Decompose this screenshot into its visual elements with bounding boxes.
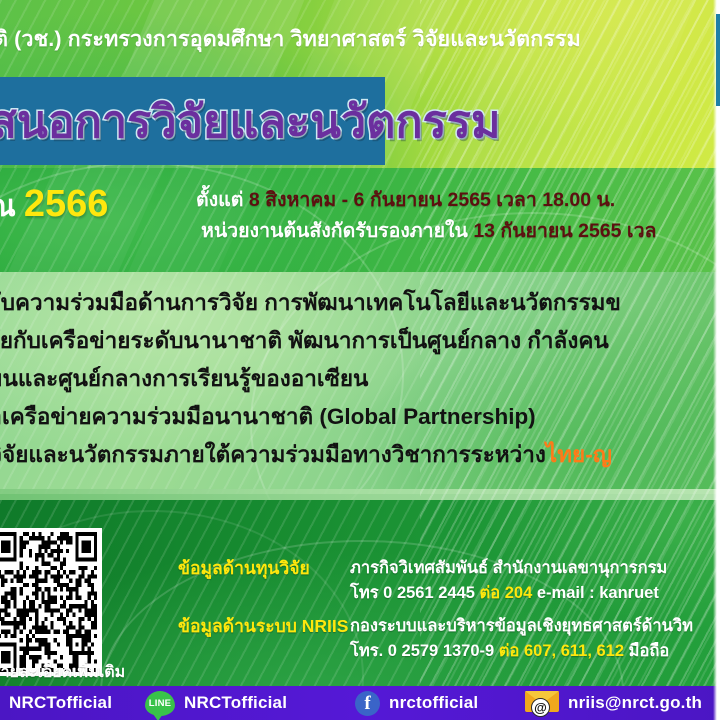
budget-year-prefix: ณ	[0, 190, 16, 223]
text-run: วิจัยกับเครือข่ายระดับนานาชาติ พัฒนาการเ…	[0, 328, 609, 353]
scope-bullet: วิจัยกับเครือข่ายระดับนานาชาติ พัฒนาการเ…	[0, 322, 621, 360]
poster-canvas: ติ (วช.) กระทรวงการอุดมศึกษา วิทยาศาสตร์…	[0, 0, 720, 720]
contact-label: ข้อมูลด้านทุนวิจัย	[178, 556, 350, 581]
scope-bullet: นาเครือข่ายความร่วมมือนานาชาติ (Global P…	[0, 398, 621, 436]
contact-detail-line: กองระบบและบริหารข้อมูลเชิงยุทธศาสตร์ด้าน…	[350, 614, 693, 639]
submission-dates: ตั้งแต่ 8 สิงหาคม - 6 กันยายน 2565 เวลา …	[196, 185, 656, 247]
social-link-website[interactable]: NRCTofficial	[0, 693, 112, 713]
text-run: กองระบบและบริหารข้อมูลเชิงยุทธศาสตร์ด้าน…	[350, 617, 693, 635]
right-edge-teal-strip	[716, 14, 720, 106]
text-run: ต่อ 204	[480, 584, 533, 602]
social-link-email[interactable]: @nriis@nrct.go.th	[525, 691, 702, 715]
budget-year-line: ณ2566	[0, 183, 108, 230]
text-run: ต่อ 607, 611, 612	[499, 642, 624, 660]
scope-bullet: นวิจัยและนวัตกรรมภายใต้ความร่วมมือทางวิช…	[0, 436, 621, 474]
contact-row: ข้อมูลด้านระบบ NRIISกองระบบและบริหารข้อม…	[178, 614, 693, 664]
organization-line: ติ (วช.) กระทรวงการอุดมศึกษา วิทยาศาสตร์…	[0, 22, 581, 56]
social-handle: nriis@nrct.go.th	[568, 693, 702, 713]
text-run: มือถือ	[624, 642, 669, 660]
text-run: 13 กันยายน 2565 เวล	[473, 220, 656, 242]
title-banner: เสนอการวิจัยและนวัตกรรม	[0, 77, 385, 165]
budget-year-value: 2566	[24, 183, 109, 225]
scope-bullet: ซียนและศูนย์กลางการเรียนรู้ของอาเซียน	[0, 360, 621, 398]
scope-bullet: ะดับความร่วมมือด้านการวิจัย การพัฒนาเทคโ…	[0, 284, 621, 322]
social-media-bar: NRCTofficialLINENRCTofficialfnrctofficia…	[0, 686, 720, 720]
text-run: ซียนและศูนย์กลางการเรียนรู้ของอาเซียน	[0, 366, 368, 391]
social-link-line[interactable]: LINENRCTofficial	[145, 691, 287, 716]
line-icon: LINE	[145, 691, 175, 716]
email-icon: @	[525, 691, 559, 715]
contact-detail-line: โทร 0 2561 2445 ต่อ 204 e-mail : kanruet	[350, 581, 667, 606]
qr-code-caption: รายละเอียดเพิ่มเติม	[0, 660, 125, 685]
contact-label: ข้อมูลด้านระบบ NRIIS	[178, 614, 350, 639]
text-run: นวิจัยและนวัตกรรมภายใต้ความร่วมมือทางวิช…	[0, 442, 546, 467]
text-run: โทร 0 2561 2445	[350, 584, 480, 602]
right-page-edge	[713, 0, 720, 720]
contact-information: ข้อมูลด้านทุนวิจัยภารกิจวิเทศสัมพันธ์ สำ…	[178, 556, 693, 672]
social-handle: NRCTofficial	[9, 693, 112, 713]
facebook-icon: f	[355, 691, 380, 716]
social-link-facebook[interactable]: fnrctofficial	[355, 691, 478, 716]
contact-detail-line: ภารกิจวิเทศสัมพันธ์ สำนักงานเลขานุการกรม	[350, 556, 667, 581]
contact-details: กองระบบและบริหารข้อมูลเชิงยุทธศาสตร์ด้าน…	[350, 614, 693, 664]
contact-row: ข้อมูลด้านทุนวิจัยภารกิจวิเทศสัมพันธ์ สำ…	[178, 556, 693, 606]
contact-detail-line: โทร. 0 2579 1370-9 ต่อ 607, 611, 612 มือ…	[350, 639, 693, 664]
text-run: โทร. 0 2579 1370-9	[350, 642, 499, 660]
text-run: ะดับความร่วมมือด้านการวิจัย การพัฒนาเทคโ…	[0, 290, 621, 315]
qr-code[interactable]	[0, 528, 102, 676]
text-run: นาเครือข่ายความร่วมมือนานาชาติ (Global P…	[0, 404, 536, 429]
social-handle: NRCTofficial	[184, 693, 287, 713]
date-row-open: ตั้งแต่ 8 สิงหาคม - 6 กันยายน 2565 เวลา …	[196, 185, 656, 216]
contact-details: ภารกิจวิเทศสัมพันธ์ สำนักงานเลขานุการกรม…	[350, 556, 667, 606]
text-run: e-mail : kanruet	[532, 584, 659, 602]
social-handle: nrctofficial	[389, 693, 478, 713]
scope-bullet-list: ะดับความร่วมมือด้านการวิจัย การพัฒนาเทคโ…	[0, 284, 621, 474]
text-run: ตั้งแต่	[196, 189, 249, 211]
text-run: 8 สิงหาคม - 6 กันยายน 2565 เวลา 18.00 น.	[249, 189, 615, 211]
text-run: หน่วยงานต้นสังกัดรับรองภายใน	[201, 220, 473, 242]
date-row-endorsement: หน่วยงานต้นสังกัดรับรองภายใน 13 กันยายน …	[196, 216, 656, 247]
title-text: เสนอการวิจัยและนวัตกรรม	[0, 85, 501, 157]
text-run: ไทย-ญ	[546, 442, 612, 467]
text-run: ภารกิจวิเทศสัมพันธ์ สำนักงานเลขานุการกรม	[350, 559, 667, 577]
qr-code-image	[0, 532, 97, 672]
